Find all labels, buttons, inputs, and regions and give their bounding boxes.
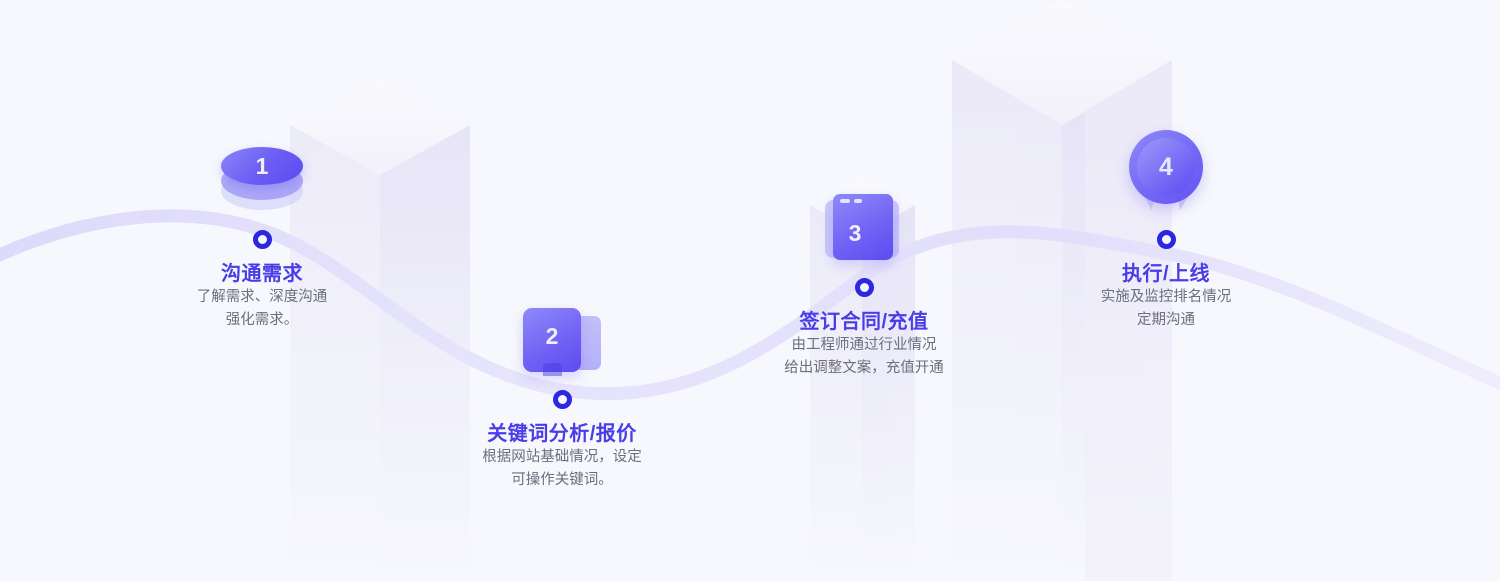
step-4-description-line-1: 实施及监控排名情况 <box>1016 286 1316 309</box>
step-3-description-line-2: 给出调整文案，充值开通 <box>714 357 1014 380</box>
step-1-description-line-1: 了解需求、深度沟通 <box>112 286 412 309</box>
process-step-3[interactable]: 3 签订合同/充值 由工程师通过行业情况 给出调整文案，充值开通 <box>714 168 1014 380</box>
step-3-description-line-1: 由工程师通过行业情况 <box>714 334 1014 357</box>
step-4-description: 实施及监控排名情况 定期沟通 <box>1016 286 1316 332</box>
step-2-description-line-1: 根据网站基础情况，设定 <box>412 446 712 469</box>
browser-window-icon: 3 <box>825 194 903 264</box>
step-1-number: 1 <box>221 147 303 185</box>
step-2-description-line-2: 可操作关键词。 <box>412 469 712 492</box>
process-step-1[interactable]: 1 沟通需求 了解需求、深度沟通 强化需求。 <box>112 120 412 332</box>
step-3-description: 由工程师通过行业情况 给出调整文案，充值开通 <box>714 334 1014 380</box>
step-3-icon-wrap: 3 <box>714 168 1014 264</box>
step-1-description-line-2: 强化需求。 <box>112 309 412 332</box>
step-1-title: 沟通需求 <box>112 262 412 286</box>
step-1-description: 了解需求、深度沟通 强化需求。 <box>112 286 412 332</box>
process-step-2[interactable]: 2 关键词分析/报价 根据网站基础情况，设定 可操作关键词。 <box>412 280 712 492</box>
step-3-title: 签订合同/充值 <box>714 310 1014 334</box>
step-2-description: 根据网站基础情况，设定 可操作关键词。 <box>412 446 712 492</box>
step-2-title: 关键词分析/报价 <box>412 422 712 446</box>
step-1-marker-dot[interactable] <box>253 230 272 249</box>
step-4-icon-wrap: 4 <box>1016 120 1316 216</box>
step-4-marker-dot[interactable] <box>1157 230 1176 249</box>
browser-titlebar-dots-icon <box>833 194 893 207</box>
process-flow-banner: 1 沟通需求 了解需求、深度沟通 强化需求。 2 <box>0 0 1500 581</box>
step-3-marker-dot[interactable] <box>855 278 874 297</box>
step-2-icon-wrap: 2 <box>412 280 712 376</box>
process-step-list: 1 沟通需求 了解需求、深度沟通 强化需求。 2 <box>0 0 1500 581</box>
step-4-number: 4 <box>1129 130 1203 204</box>
step-4-description-line-2: 定期沟通 <box>1016 309 1316 332</box>
medal-badge-icon: 4 <box>1123 130 1209 216</box>
stacked-discs-icon: 1 <box>221 146 303 216</box>
stacked-cards-icon: 2 <box>523 308 601 376</box>
process-step-4[interactable]: 4 执行/上线 实施及监控排名情况 定期沟通 <box>1016 120 1316 332</box>
step-2-number: 2 <box>523 308 581 364</box>
step-3-number: 3 <box>825 207 885 260</box>
step-2-marker-dot[interactable] <box>553 390 572 409</box>
step-1-icon-wrap: 1 <box>112 120 412 216</box>
step-4-title: 执行/上线 <box>1016 262 1316 286</box>
